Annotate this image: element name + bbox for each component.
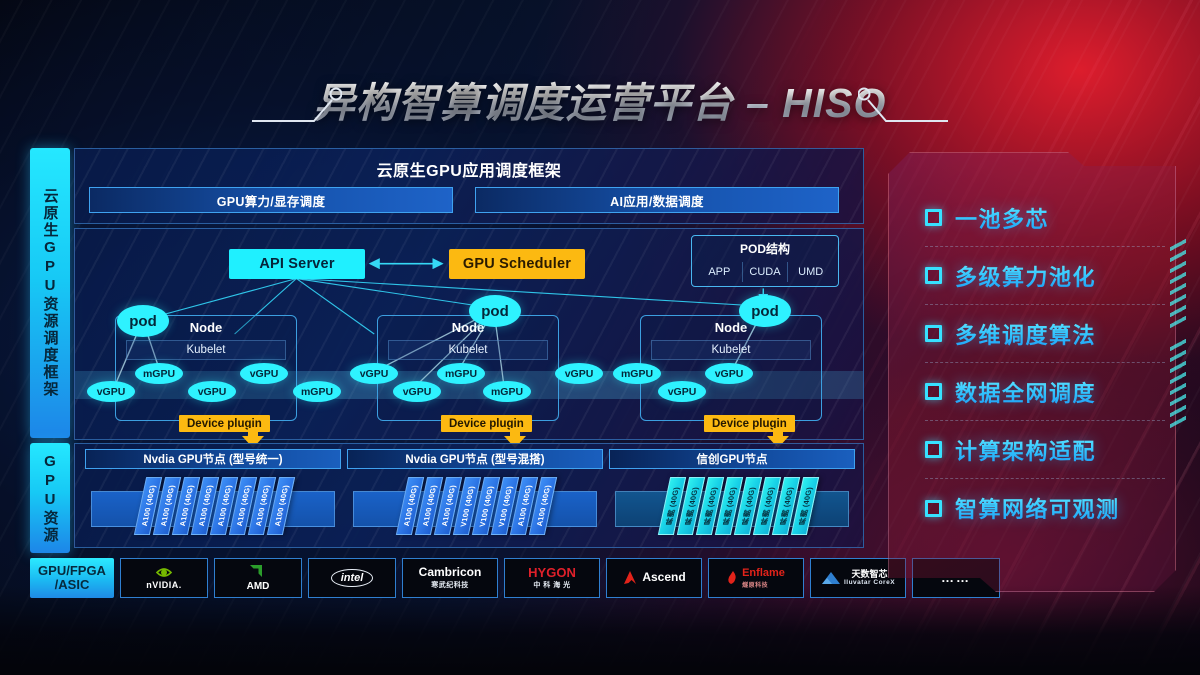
amd-arrow-icon — [249, 564, 267, 580]
gpu-cluster-title: 信创GPU节点 — [609, 449, 855, 469]
vendor-logo-sub: 寒武纪科技 — [419, 580, 482, 590]
title-left-deco-icon — [252, 84, 342, 122]
iluvatar-mountain-icon — [821, 570, 841, 586]
vendor-logo-row: GPU/FPGA /ASIC nVIDIA. AMD intel — [30, 558, 1000, 598]
pod-bubble[interactable]: pod — [469, 295, 521, 327]
pod-cell-app: APP — [697, 262, 743, 282]
checkbox-icon — [925, 383, 942, 400]
vendor-category-tab[interactable]: GPU/FPGA /ASIC — [30, 558, 114, 598]
vendor-logo-sub: 燧原科技 — [742, 580, 785, 589]
feature-label: 数据全网调度 — [955, 376, 1096, 408]
pod-structure-cells: APP CUDA UMD — [697, 262, 833, 282]
pod-cell-umd: UMD — [788, 262, 833, 282]
gpu-bubble[interactable]: vGPU — [555, 363, 603, 384]
vendor-logo-amd[interactable]: AMD — [214, 558, 302, 598]
title-right-deco-icon — [858, 84, 948, 122]
gpu-bubble[interactable]: mGPU — [613, 363, 661, 384]
vendor-logo-sub: 中 科 海 光 — [528, 580, 576, 590]
feature-item[interactable]: 多维调度算法 — [925, 305, 1165, 363]
checkbox-icon — [925, 325, 942, 342]
feature-label: 智算网络可观测 — [955, 492, 1120, 524]
gpu-bubble[interactable]: vGPU — [188, 381, 236, 402]
bar-ai-data-scheduling[interactable]: AI应用/数据调度 — [475, 187, 839, 213]
vendor-logo-text: Cambricon — [419, 566, 482, 579]
gpu-cluster-title: Nvdia GPU节点 (型号混搭) — [347, 449, 603, 469]
feature-label: 一池多芯 — [955, 202, 1049, 234]
background-bottom-fade — [0, 585, 1200, 675]
feature-panel: 一池多芯多级算力池化多维调度算法数据全网调度计算架构适配智算网络可观测 — [888, 152, 1176, 592]
feature-item[interactable]: 智算网络可观测 — [925, 479, 1165, 537]
kubelet-bar: Kubelet — [126, 340, 286, 360]
vendor-logo-text: HYGON — [528, 566, 576, 580]
gpu-bubble[interactable]: mGPU — [293, 381, 341, 402]
api-server-box[interactable]: API Server — [229, 249, 365, 279]
gpu-bubble[interactable]: mGPU — [483, 381, 531, 402]
sidebar-tab-framework-label: 云原生GPU资源调度框架 — [43, 188, 58, 398]
vendor-logo-hygon[interactable]: HYGON 中 科 海 光 — [504, 558, 600, 598]
vendor-logo-text: Enflame — [742, 567, 785, 579]
framework-heading: 云原生GPU应用调度框架 — [75, 157, 863, 181]
pod-structure-title: POD结构 — [692, 240, 838, 257]
feature-item[interactable]: 数据全网调度 — [925, 363, 1165, 421]
nvidia-eye-icon — [153, 565, 175, 580]
feature-label: 多级算力池化 — [955, 260, 1096, 292]
vendor-logo-nvidia[interactable]: nVIDIA. — [120, 558, 208, 598]
sidebar-tab-gpu-resource-label: GPU资源 — [43, 453, 58, 544]
feature-list: 一池多芯多级算力池化多维调度算法数据全网调度计算架构适配智算网络可观测 — [925, 189, 1165, 537]
vendor-logo-text: Ascend — [642, 571, 685, 584]
pod-cell-cuda: CUDA — [743, 262, 789, 282]
vendor-logo-sub: Iluvatar CoreX — [844, 579, 895, 586]
vendor-logo-intel[interactable]: intel — [308, 558, 396, 598]
checkbox-icon — [925, 267, 942, 284]
pod-bubble[interactable]: pod — [739, 295, 791, 327]
checkbox-icon — [925, 500, 942, 517]
gpu-cluster-title: Nvdia GPU节点 (型号统一) — [85, 449, 341, 469]
vendor-logo-cambricon[interactable]: Cambricon 寒武纪科技 — [402, 558, 498, 598]
gpu-resource-panel: Nvdia GPU节点 (型号统一) A100 (40G)A100 (40G)A… — [74, 443, 864, 548]
vendor-logo-text: AMD — [247, 581, 270, 592]
feature-item[interactable]: 一池多芯 — [925, 189, 1165, 247]
feature-item[interactable]: 多级算力池化 — [925, 247, 1165, 305]
gpu-bubble[interactable]: vGPU — [87, 381, 135, 402]
hatch-deco-top — [1170, 234, 1186, 329]
vendor-logo-enflame[interactable]: Enflame 燧原科技 — [708, 558, 804, 598]
slide-title-bar: 异构智算调度运营平台 – HISO — [0, 62, 1200, 136]
pod-structure-box: POD结构 APP CUDA UMD — [691, 235, 839, 287]
node-label: Node — [641, 320, 821, 335]
k8s-scheduling-panel: API Server GPU Scheduler POD结构 APP CUDA … — [74, 228, 864, 440]
gpu-cluster-body: 昇腾 (40G)昇腾 (40G)昇腾 (40G)昇腾 (40G)昇腾 (40G)… — [609, 477, 855, 539]
gpu-bubble[interactable]: mGPU — [437, 363, 485, 384]
slide-canvas: 异构智算调度运营平台 – HISO 云原生GPU资源调度框架 GPU资源 云原生… — [0, 0, 1200, 675]
pod-bubble[interactable]: pod — [117, 305, 169, 337]
checkbox-icon — [925, 441, 942, 458]
gpu-bubble[interactable]: vGPU — [350, 363, 398, 384]
vendor-logo-text: 天数智芯 — [844, 570, 895, 580]
vendor-logo-text: nVIDIA. — [146, 581, 182, 591]
vendor-logo-ascend[interactable]: Ascend — [606, 558, 702, 598]
kubelet-bar: Kubelet — [388, 340, 548, 360]
node-label: Node — [378, 320, 558, 335]
kubelet-bar: Kubelet — [651, 340, 811, 360]
feature-label: 多维调度算法 — [955, 318, 1096, 350]
hatch-deco-bottom — [1170, 334, 1186, 429]
feature-label: 计算架构适配 — [955, 434, 1096, 466]
gpu-bubble[interactable]: mGPU — [135, 363, 183, 384]
gpu-bubble[interactable]: vGPU — [705, 363, 753, 384]
enflame-flame-icon — [727, 570, 739, 586]
bar-gpu-compute-scheduling[interactable]: GPU算力/显存调度 — [89, 187, 453, 213]
gpu-cluster-body: A100 (40G)A100 (40G)A100 (40G)A100 (40G)… — [85, 477, 341, 539]
gpu-cluster: 信创GPU节点 昇腾 (40G)昇腾 (40G)昇腾 (40G)昇腾 (40G)… — [609, 449, 855, 544]
vendor-logo-text: intel — [341, 572, 364, 584]
checkbox-icon — [925, 209, 942, 226]
gpu-bubble[interactable]: vGPU — [393, 381, 441, 402]
ascend-mark-icon — [622, 570, 638, 586]
sidebar-tab-framework[interactable]: 云原生GPU资源调度框架 — [30, 148, 70, 438]
vendor-tab-line2: /ASIC — [55, 578, 90, 592]
framework-panel: 云原生GPU应用调度框架 GPU算力/显存调度 AI应用/数据调度 — [74, 148, 864, 224]
vendor-tab-line1: GPU/FPGA — [38, 564, 106, 578]
feature-item[interactable]: 计算架构适配 — [925, 421, 1165, 479]
gpu-bubble[interactable]: vGPU — [240, 363, 288, 384]
gpu-cluster: Nvdia GPU节点 (型号混搭) A100 (40G)A100 (40G)A… — [347, 449, 603, 544]
gpu-cluster: Nvdia GPU节点 (型号统一) A100 (40G)A100 (40G)A… — [85, 449, 341, 544]
gpu-cluster-body: A100 (40G)A100 (40G)A100 (40G)V100 (40G)… — [347, 477, 603, 539]
page-title: 异构智算调度运营平台 – HISO — [314, 69, 887, 129]
gpu-bubble[interactable]: vGPU — [658, 381, 706, 402]
gpu-scheduler-box[interactable]: GPU Scheduler — [449, 249, 585, 279]
sidebar-tab-gpu-resource[interactable]: GPU资源 — [30, 443, 70, 553]
